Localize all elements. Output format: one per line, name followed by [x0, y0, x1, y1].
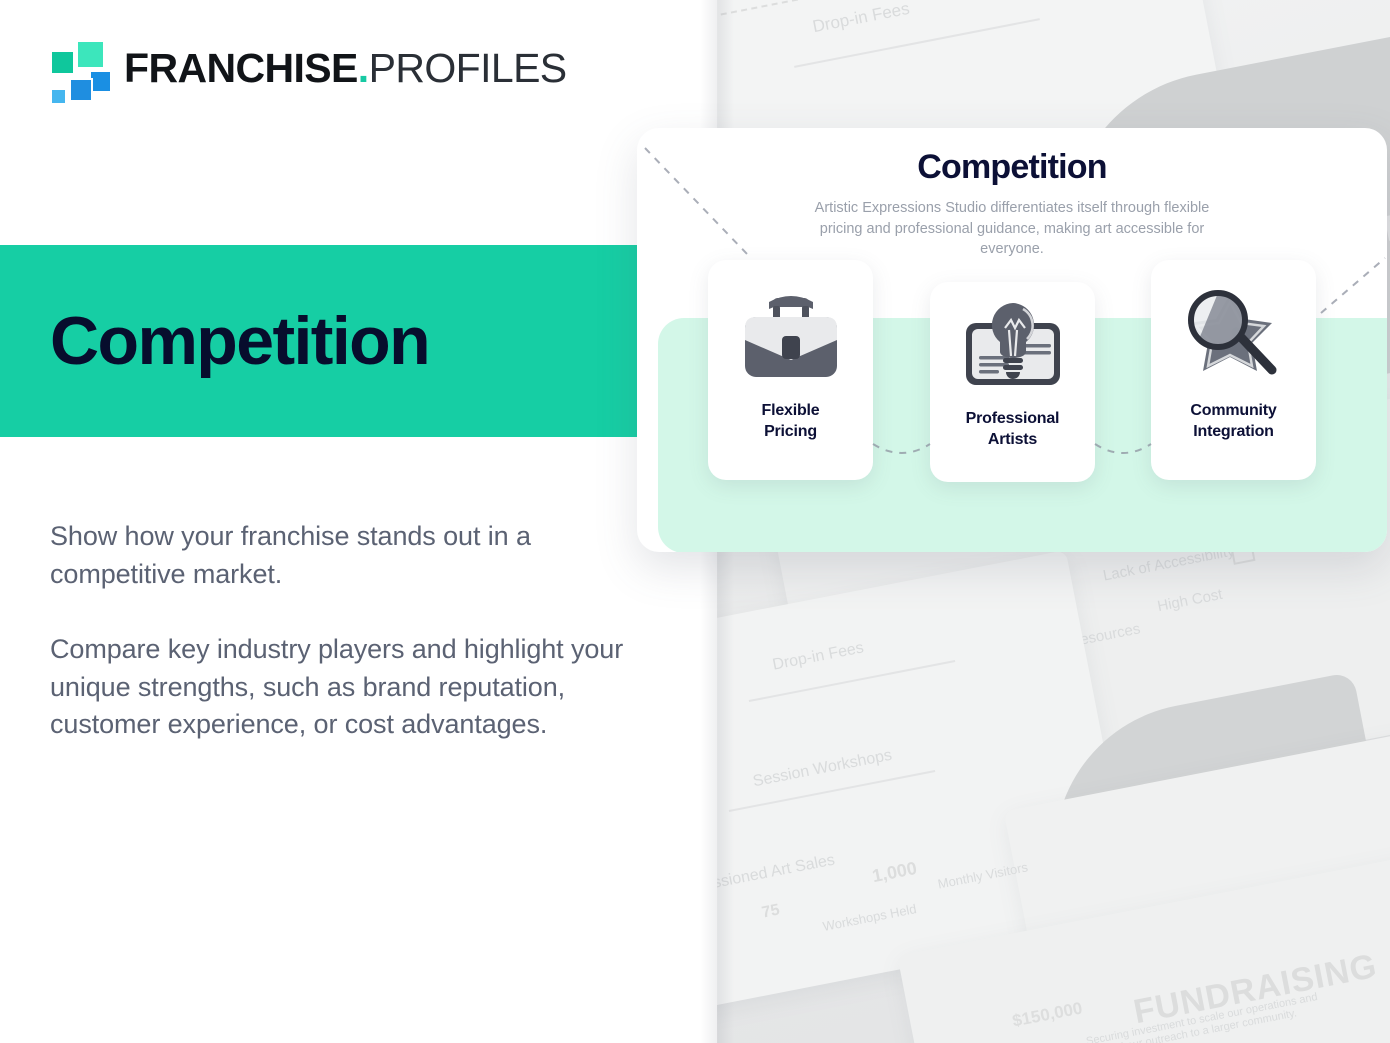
feature-label-line1: Community — [1190, 402, 1276, 419]
lightbulb-document-icon — [953, 300, 1073, 398]
logo-wordmark: FRANCHISE.PROFILES — [124, 48, 567, 89]
feature-label-line2: Artists — [988, 431, 1037, 448]
page-title: Competition — [50, 307, 429, 375]
magnifier-star-icon — [1174, 286, 1294, 390]
logo-mark-icon — [50, 42, 108, 94]
logo-square-green-large — [76, 40, 105, 69]
feature-label-line1: Professional — [966, 410, 1060, 427]
feature-card-professional-artists[interactable]: Professional Artists — [930, 282, 1095, 482]
logo-word-franchise: FRANCHISE — [124, 45, 358, 91]
logo-square-blue-small — [50, 88, 67, 105]
feature-label-line2: Integration — [1193, 423, 1273, 440]
body-paragraph-2: Compare key industry players and highlig… — [50, 631, 625, 744]
briefcase-icon — [731, 286, 851, 390]
feature-card-community-integration[interactable]: Community Integration — [1151, 260, 1316, 480]
logo-square-green-small — [50, 50, 75, 75]
logo-word-dot: . — [358, 45, 369, 91]
title-banner: Competition — [0, 245, 638, 437]
feature-card-flexible-pricing[interactable]: Flexible Pricing — [708, 260, 873, 480]
feature-card-row: Flexible Pricing — [637, 128, 1387, 552]
body-paragraph-1: Show how your franchise stands out in a … — [50, 518, 625, 593]
feature-card-label: Professional Artists — [958, 408, 1068, 450]
feature-label-line1: Flexible — [762, 402, 820, 419]
logo-square-blue-mid — [69, 78, 93, 102]
logo-word-profiles: PROFILES — [369, 45, 567, 91]
body-copy: Show how your franchise stands out in a … — [50, 518, 625, 744]
feature-label-line2: Pricing — [764, 423, 817, 440]
feature-card-label: Community Integration — [1182, 400, 1284, 442]
competition-preview-card: Competition Artistic Expressions Studio … — [637, 128, 1387, 552]
feature-card-label: Flexible Pricing — [754, 400, 828, 442]
collage-ghost-label: 75 — [760, 901, 781, 922]
left-panel: FRANCHISE.PROFILES Competition Show how … — [0, 0, 717, 1043]
franchise-profiles-logo: FRANCHISE.PROFILES — [50, 40, 567, 96]
